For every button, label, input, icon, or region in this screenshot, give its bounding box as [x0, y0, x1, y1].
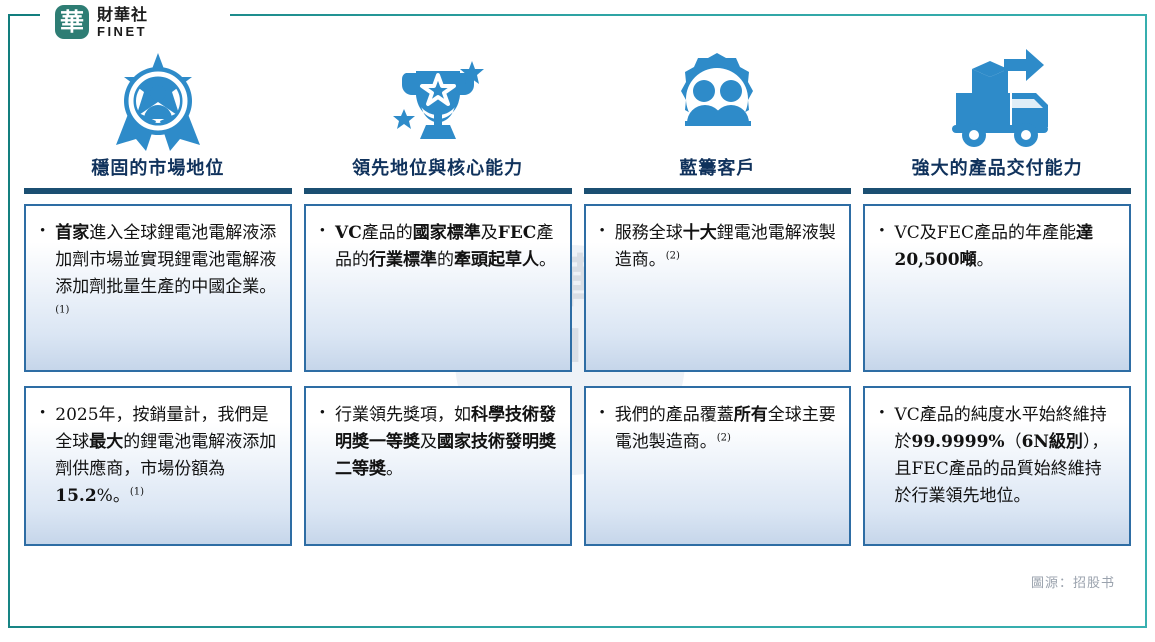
- bullet-icon: •: [875, 220, 884, 243]
- column-title: 領先地位與核心能力: [304, 154, 572, 188]
- bullet-icon: •: [875, 402, 884, 425]
- bullet-icon: •: [316, 220, 325, 243]
- card-text: 首家進入全球鋰電池電解液添加劑市場並實現鋰電池電解液添加劑批量生產的中國企業。(…: [55, 220, 277, 327]
- column-title: 穩固的市場地位: [24, 154, 292, 188]
- card-text: VC產品的純度水平始終維持於99.9999%（6N級別），且FEC產品的品質始終…: [895, 402, 1117, 509]
- bullet-icon: •: [596, 402, 605, 425]
- brand-logo-text: 財華社 FINET: [97, 7, 148, 38]
- card: • 首家進入全球鋰電池電解液添加劑市場並實現鋰電池電解液添加劑批量生產的中國企業…: [24, 204, 292, 372]
- bullet-icon: •: [596, 220, 605, 243]
- card: • 服務全球十大鋰電池電解液製造商。(2): [584, 204, 852, 372]
- columns-grid: 穩固的市場地位 • 首家進入全球鋰電池電解液添加劑市場並實現鋰電池電解液添加劑批…: [24, 44, 1131, 560]
- column-market-position: 穩固的市場地位 • 首家進入全球鋰電池電解液添加劑市場並實現鋰電池電解液添加劑批…: [24, 44, 292, 560]
- infographic-page: 華 財華社 FINET 財 華 社 FINET: [0, 0, 1155, 642]
- card: • 行業領先獎項，如科學技術發明獎一等獎及國家技術發明獎二等獎。: [304, 386, 572, 546]
- column-title: 強大的產品交付能力: [863, 154, 1131, 188]
- brand-name-en: FINET: [97, 25, 148, 38]
- title-divider: [863, 188, 1131, 194]
- card: • VC產品的國家標準及FEC產品的行業標準的牽頭起草人。: [304, 204, 572, 372]
- trophy-star-icon: [304, 44, 572, 154]
- card-text: VC產品的國家標準及FEC產品的行業標準的牽頭起草人。: [335, 220, 557, 274]
- gear-two-people-icon: [584, 44, 852, 154]
- card-text: 服務全球十大鋰電池電解液製造商。(2): [615, 220, 837, 274]
- brand-logo: 華 財華社 FINET: [55, 4, 148, 40]
- bullet-icon: •: [36, 402, 45, 425]
- card-text: 行業領先獎項，如科學技術發明獎一等獎及國家技術發明獎二等獎。: [335, 402, 557, 483]
- card-text: 2025年，按銷量計，我們是全球最大的鋰電池電解液添加劑供應商，市場份額為15.…: [55, 402, 277, 509]
- card: • 我們的產品覆蓋所有全球主要電池製造商。(2): [584, 386, 852, 546]
- delivery-truck-box-arrow-icon: [863, 44, 1131, 154]
- title-divider: [584, 188, 852, 194]
- brand-name-cn: 財華社: [97, 7, 148, 23]
- bullet-icon: •: [36, 220, 45, 243]
- column-title: 藍籌客戶: [584, 154, 852, 188]
- column-delivery-capability: 強大的產品交付能力 • VC及FEC產品的年產能達20,500噸。 • VC產品…: [863, 44, 1131, 560]
- title-divider: [304, 188, 572, 194]
- card: • VC產品的純度水平始終維持於99.9999%（6N級別），且FEC產品的品質…: [863, 386, 1131, 546]
- column-leading-position: 領先地位與核心能力 • VC產品的國家標準及FEC產品的行業標準的牽頭起草人。 …: [304, 44, 572, 560]
- card-text: VC及FEC產品的年產能達20,500噸。: [895, 220, 1117, 274]
- card-text: 我們的產品覆蓋所有全球主要電池製造商。(2): [615, 402, 837, 456]
- source-caption: 圖源：招股书: [1031, 572, 1115, 591]
- bullet-icon: •: [316, 402, 325, 425]
- award-badge-person-star-icon: [24, 44, 292, 154]
- card: • 2025年，按銷量計，我們是全球最大的鋰電池電解液添加劑供應商，市場份額為1…: [24, 386, 292, 546]
- card: • VC及FEC產品的年產能達20,500噸。: [863, 204, 1131, 372]
- column-blue-chip-clients: 藍籌客戶 • 服務全球十大鋰電池電解液製造商。(2) • 我們的產品覆蓋所有全球…: [584, 44, 852, 560]
- title-divider: [24, 188, 292, 194]
- finet-logo-icon: 華: [55, 5, 89, 39]
